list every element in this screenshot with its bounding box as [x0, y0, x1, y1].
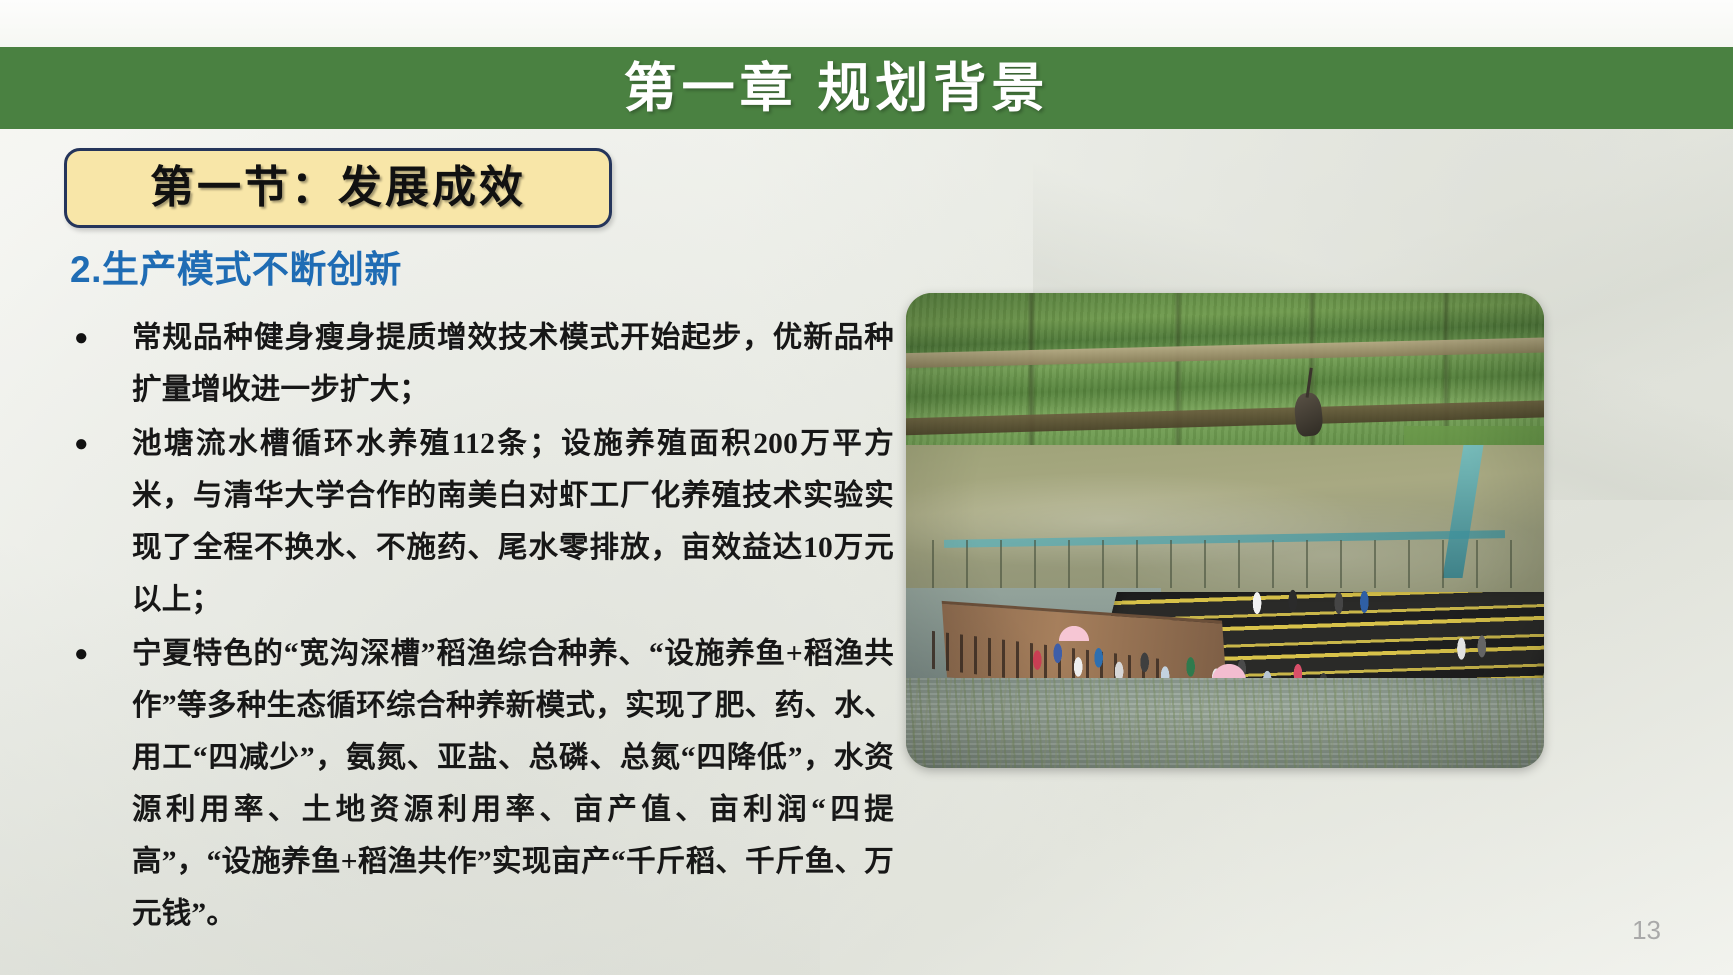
list-item: ● 宁夏特色的“宽沟深槽”稻渔综合种养、“设施养鱼+稻渔共作”等多种生态循环综合… [64, 628, 894, 940]
list-item: ● 常规品种健身瘦身提质增效技术模式开始起步，优新品种扩量增收进一步扩大； [64, 312, 894, 416]
aquaculture-site-photo [906, 293, 1544, 768]
section-title-box: 第一节：发展成效 [64, 148, 612, 228]
list-item: ● 池塘流水槽循环水养殖112条；设施养殖面积200万平方米，与清华大学合作的南… [64, 418, 894, 626]
chapter-title: 第一章 规划背景 [624, 62, 1050, 115]
list-item-text: 常规品种健身瘦身提质增效技术模式开始起步，优新品种扩量增收进一步扩大； [132, 312, 894, 416]
bullet-dot-icon: ● [64, 418, 132, 470]
sub-heading: 2.生产模式不断创新 [70, 250, 402, 291]
list-item-text: 宁夏特色的“宽沟深槽”稻渔综合种养、“设施养鱼+稻渔共作”等多种生态循环综合种养… [132, 628, 894, 940]
bullet-dot-icon: ● [64, 312, 132, 364]
page-number: 13 [1632, 917, 1661, 943]
chapter-header-banner: 第一章 规划背景 [0, 47, 1733, 129]
bullet-dot-icon: ● [64, 628, 132, 680]
section-title-label: 第一节：发展成效 [150, 166, 526, 210]
slide-canvas: 第一章 规划背景 第一节：发展成效 2.生产模式不断创新 ● 常规品种健身瘦身提… [0, 0, 1733, 975]
bullet-list: ● 常规品种健身瘦身提质增效技术模式开始起步，优新品种扩量增收进一步扩大； ● … [64, 312, 894, 942]
list-item-text: 池塘流水槽循环水养殖112条；设施养殖面积200万平方米，与清华大学合作的南美白… [132, 418, 894, 626]
photo-composition [906, 293, 1544, 768]
photo-vignette [906, 293, 1544, 768]
top-white-strip [0, 0, 1733, 47]
